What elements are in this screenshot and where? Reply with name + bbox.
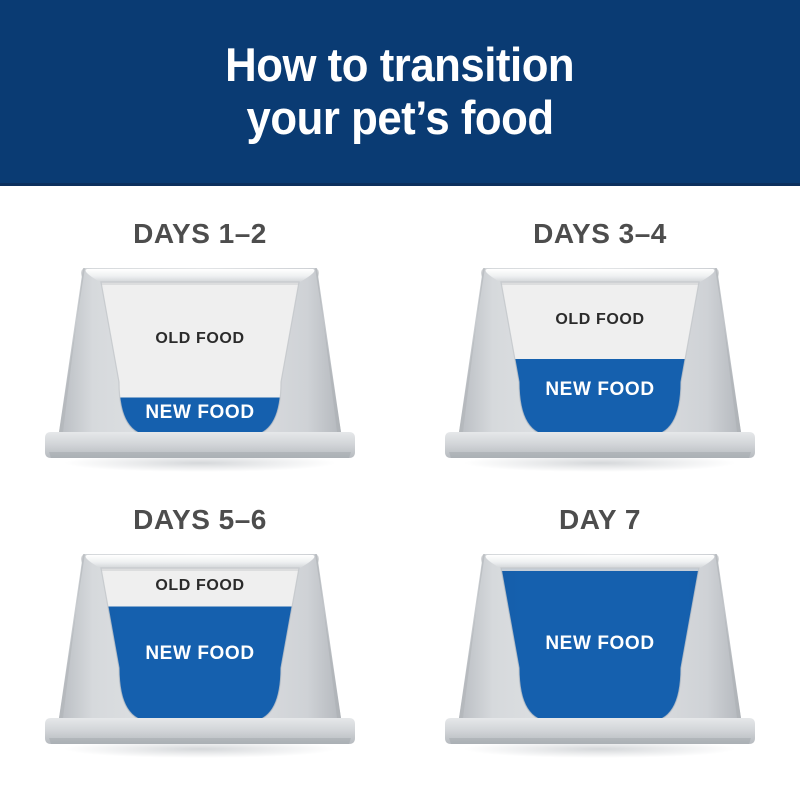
bowl-graphic	[45, 546, 355, 761]
header-title-line-2: your pet’s food	[246, 92, 553, 145]
pet-food-bowl: OLD FOODNEW FOOD	[445, 260, 755, 475]
pet-food-bowl: OLD FOODNEW FOOD	[45, 546, 355, 761]
step-title: DAY 7	[400, 504, 800, 536]
transition-step-panel: DAYS 5–6	[0, 486, 400, 776]
transition-step-panel: DAY 7	[400, 486, 800, 776]
bowl-graphic	[445, 260, 755, 475]
pet-food-bowl: OLD FOODNEW FOOD	[45, 260, 355, 475]
transition-steps-grid: DAYS 1–2	[0, 186, 800, 800]
step-title: DAYS 1–2	[0, 218, 400, 250]
step-title: DAYS 5–6	[0, 504, 400, 536]
header-banner: How to transition your pet’s food	[0, 0, 800, 186]
transition-step-panel: DAYS 3–4	[400, 200, 800, 490]
bowl-graphic	[445, 546, 755, 761]
bowl-graphic	[45, 260, 355, 475]
header-title-line-1: How to transition	[225, 39, 574, 92]
pet-food-bowl: NEW FOOD	[445, 546, 755, 761]
transition-step-panel: DAYS 1–2	[0, 200, 400, 490]
step-title: DAYS 3–4	[400, 218, 800, 250]
